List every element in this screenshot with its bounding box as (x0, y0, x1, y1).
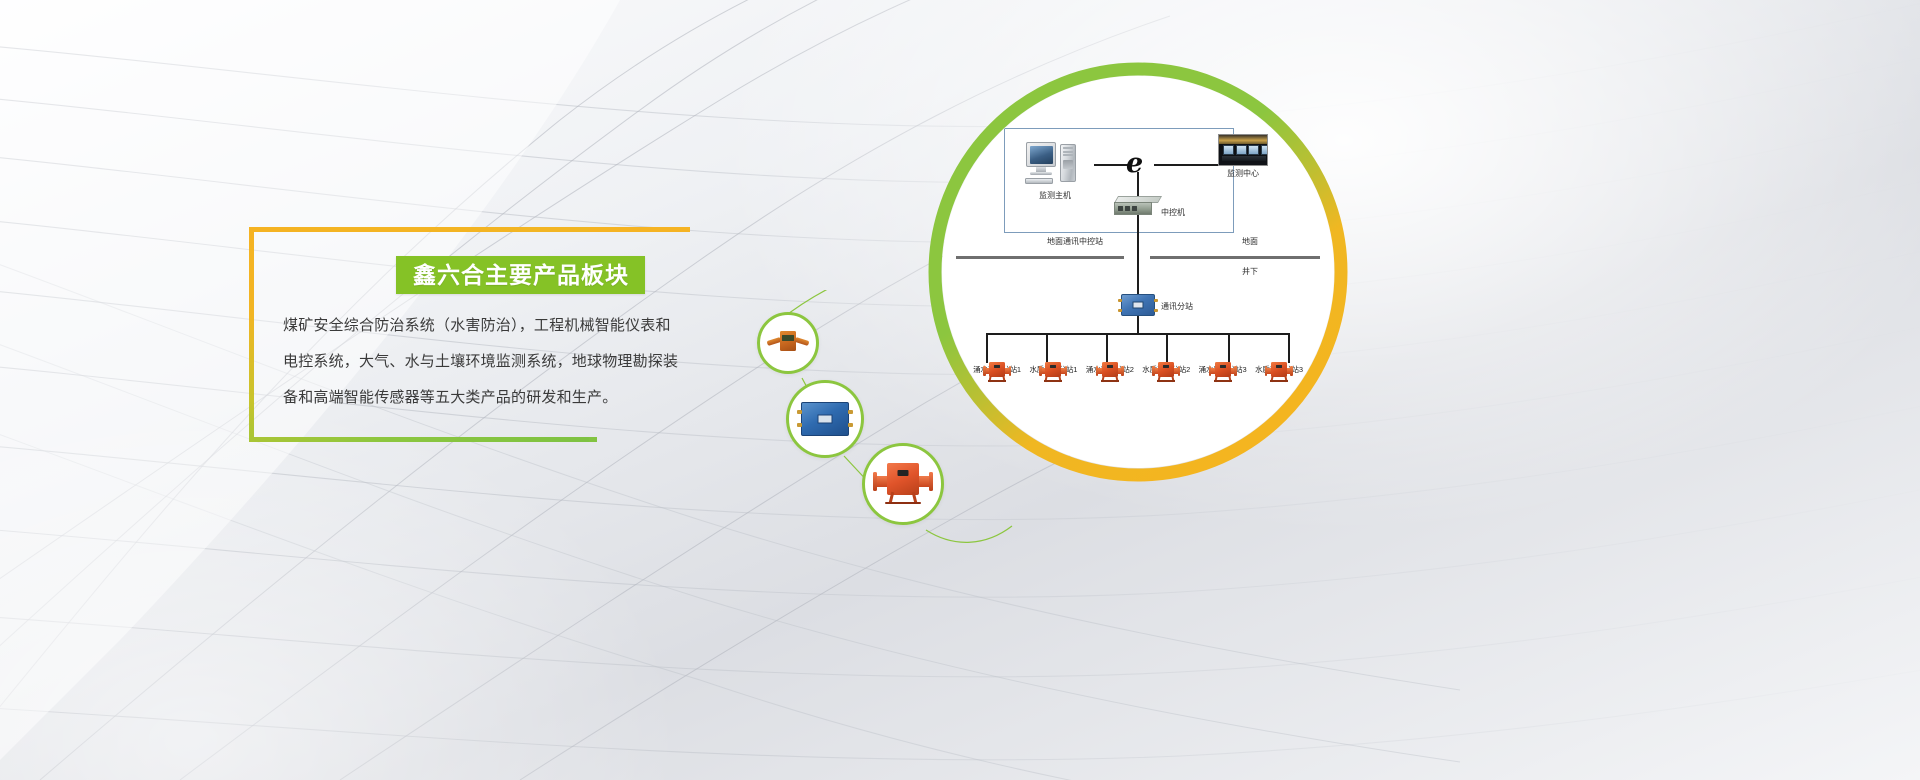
link-host-to-network (1094, 164, 1128, 166)
section-title-banner: 鑫六合主要产品板块 (396, 256, 645, 294)
system-diagram-circle: 监测主机 e 监测中心 (928, 62, 1348, 482)
collector-substation[interactable]: 涌水采集分站1 (970, 362, 1024, 375)
orange-clamp-device-icon (767, 331, 809, 355)
panel-description: 煤矿安全综合防治系统（水害防治），工程机械智能仪表和 电控系统，大气、水与土壤环… (283, 308, 703, 416)
label-surface-control-station: 地面通讯中控站 (1047, 236, 1103, 247)
monitor-icon (1026, 142, 1056, 167)
collector-substation[interactable]: 水质采集分站3 (1252, 362, 1306, 375)
label-underground: 井下 (1242, 266, 1258, 277)
collector-substation[interactable]: 水质采集分站2 (1139, 362, 1193, 375)
hero-banner: 鑫六合主要产品板块 煤矿安全综合防治系统（水害防治），工程机械智能仪表和 电控系… (0, 0, 1920, 780)
node-central-controller (1114, 196, 1158, 216)
description-line-1: 煤矿安全综合防治系统（水害防治），工程机械智能仪表和 (283, 308, 703, 344)
page-title: 鑫六合主要产品板块 (413, 264, 629, 287)
collector-substation[interactable]: 水质采集分站1 (1026, 362, 1080, 375)
label-ground: 地面 (1242, 236, 1258, 247)
control-room-photo (1218, 134, 1268, 166)
node-label-central-controller: 中控机 (1161, 207, 1185, 218)
collector-device-icon (983, 362, 1011, 382)
description-line-2: 电控系统，大气、水与土壤环境监测系统，地球物理勘探装 (283, 344, 703, 380)
collector-device-icon (1039, 362, 1067, 382)
product-badge-blue-junction-box[interactable] (786, 380, 864, 458)
drop-line (1046, 333, 1048, 363)
info-frame-top-edge (589, 227, 690, 232)
tower-icon (1060, 144, 1076, 182)
description-line-3: 备和高端智能传感器等五大类产品的研发和生产。 (283, 380, 703, 416)
link-controller-to-substation (1137, 215, 1139, 297)
collector-bus-line (986, 333, 1288, 335)
node-label-monitoring-host: 监测主机 (1020, 192, 1090, 201)
info-frame-bottom-edge (589, 437, 597, 442)
collector-substation[interactable]: 涌水采集分站2 (1083, 362, 1137, 375)
node-monitoring-host: 监测主机 (1020, 140, 1090, 201)
blue-junction-box-icon (801, 402, 849, 436)
collector-device-icon (1209, 362, 1237, 382)
node-label-monitoring-center: 监测中心 (1214, 170, 1272, 179)
drop-line (1288, 333, 1290, 363)
ground-line-right (1150, 256, 1320, 259)
diagram-canvas: 监测主机 e 监测中心 (942, 76, 1334, 468)
collector-device-icon (1096, 362, 1124, 382)
collector-substation[interactable]: 涌水采集分站3 (1196, 362, 1250, 375)
node-comm-substation (1121, 294, 1155, 316)
collector-device-icon (1152, 362, 1180, 382)
ground-line-left (956, 256, 1124, 259)
drop-line (986, 333, 988, 363)
link-substation-to-bus (1137, 316, 1139, 334)
drop-line (1228, 333, 1230, 363)
link-network-to-controller (1137, 172, 1139, 198)
drop-line (1106, 333, 1108, 363)
network-e-icon: e (1126, 150, 1143, 177)
node-label-comm-substation: 通讯分站 (1161, 301, 1193, 312)
collector-device-icon (1265, 362, 1293, 382)
node-monitoring-center: 监测中心 (1214, 134, 1272, 179)
collector-substation-row: 涌水采集分站1 水质采集分站1 (970, 362, 1306, 375)
product-badge-orange-clamp[interactable] (757, 312, 819, 374)
drop-line (1166, 333, 1168, 363)
red-flanged-collector-icon (873, 463, 933, 505)
